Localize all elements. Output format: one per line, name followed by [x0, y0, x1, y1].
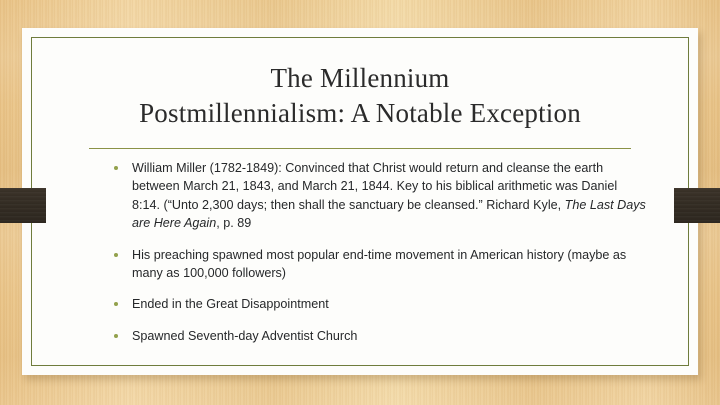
bullet-text-run: Spawned Seventh-day Adventist Church	[132, 329, 357, 343]
slide-title-line-1: The Millennium	[32, 61, 688, 96]
left-decorative-tab	[0, 188, 46, 223]
bullet-item: Spawned Seventh-day Adventist Church	[105, 327, 648, 345]
slide-title-line-2: Postmillennialism: A Notable Exception	[32, 96, 688, 131]
bullet-dot-icon	[114, 166, 118, 170]
slide-card: The Millennium Postmillennialism: A Nota…	[22, 28, 698, 375]
right-decorative-tab	[674, 188, 720, 223]
bullet-item: His preaching spawned most popular end-t…	[105, 246, 648, 283]
bullet-text-run: , p. 89	[216, 216, 251, 230]
bullet-item-text: His preaching spawned most popular end-t…	[132, 248, 626, 280]
bullet-dot-icon	[114, 302, 118, 306]
bullet-dot-icon	[114, 334, 118, 338]
bullet-dot-icon	[114, 253, 118, 257]
bullet-item-text: Ended in the Great Disappointment	[132, 297, 329, 311]
slide-canvas: The Millennium Postmillennialism: A Nota…	[0, 0, 720, 405]
bullet-text-run: William Miller (1782-1849): Convinced th…	[132, 161, 617, 212]
slide-card-inner-border: The Millennium Postmillennialism: A Nota…	[31, 37, 689, 366]
bullet-item: Ended in the Great Disappointment	[105, 295, 648, 313]
bullet-text-run: Ended in the Great Disappointment	[132, 297, 329, 311]
title-divider-rule	[89, 148, 631, 149]
bullet-item-text: Spawned Seventh-day Adventist Church	[132, 329, 357, 343]
slide-bullet-list: William Miller (1782-1849): Convinced th…	[105, 159, 648, 345]
bullet-item-text: William Miller (1782-1849): Convinced th…	[132, 161, 646, 230]
bullet-item: William Miller (1782-1849): Convinced th…	[105, 159, 648, 233]
bullet-text-run: His preaching spawned most popular end-t…	[132, 248, 626, 280]
slide-title: The Millennium Postmillennialism: A Nota…	[32, 61, 688, 131]
